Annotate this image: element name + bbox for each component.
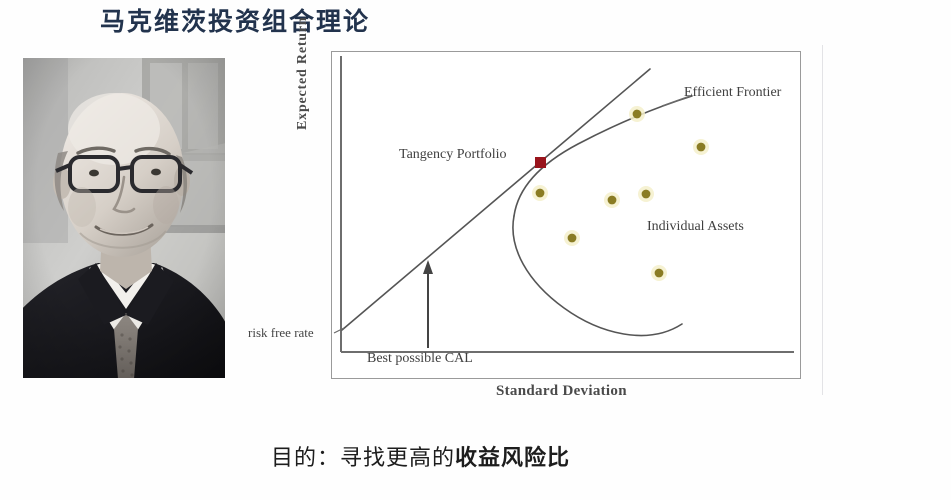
x-axis-title: Standard Deviation xyxy=(496,383,627,400)
asset-marker xyxy=(532,185,548,201)
slide-caption: 目的：寻找更高的收益风险比 xyxy=(271,440,570,472)
individual-asset-markers xyxy=(532,106,709,281)
page-title: 马克维茨投资组合理论 xyxy=(100,2,370,38)
asset-marker xyxy=(693,139,709,155)
efficient-frontier-label: Efficient Frontier xyxy=(684,85,781,101)
asset-marker xyxy=(564,230,580,246)
vertical-divider xyxy=(822,45,823,395)
tangency-portfolio-label: Tangency Portfolio xyxy=(399,147,507,163)
slide-canvas: 马克维茨投资组合理论 xyxy=(0,0,951,500)
best-possible-cal-label: Best possible CAL xyxy=(367,351,473,367)
tangency-portfolio-marker xyxy=(535,157,546,168)
caption-emphasis: 收益风险比 xyxy=(455,446,570,471)
individual-assets-label: Individual Assets xyxy=(647,219,744,235)
asset-marker xyxy=(629,106,645,122)
asset-marker xyxy=(604,192,620,208)
asset-marker xyxy=(638,186,654,202)
asset-marker xyxy=(651,265,667,281)
best-possible-cal-arrow xyxy=(423,260,433,348)
portrait-photo xyxy=(22,57,226,379)
risk-free-rate-label: risk free rate xyxy=(248,325,314,341)
caption-prefix: 目的：寻找更高的 xyxy=(271,446,455,471)
y-axis-title: Expected Return xyxy=(295,0,311,130)
capital-allocation-line xyxy=(342,69,650,330)
